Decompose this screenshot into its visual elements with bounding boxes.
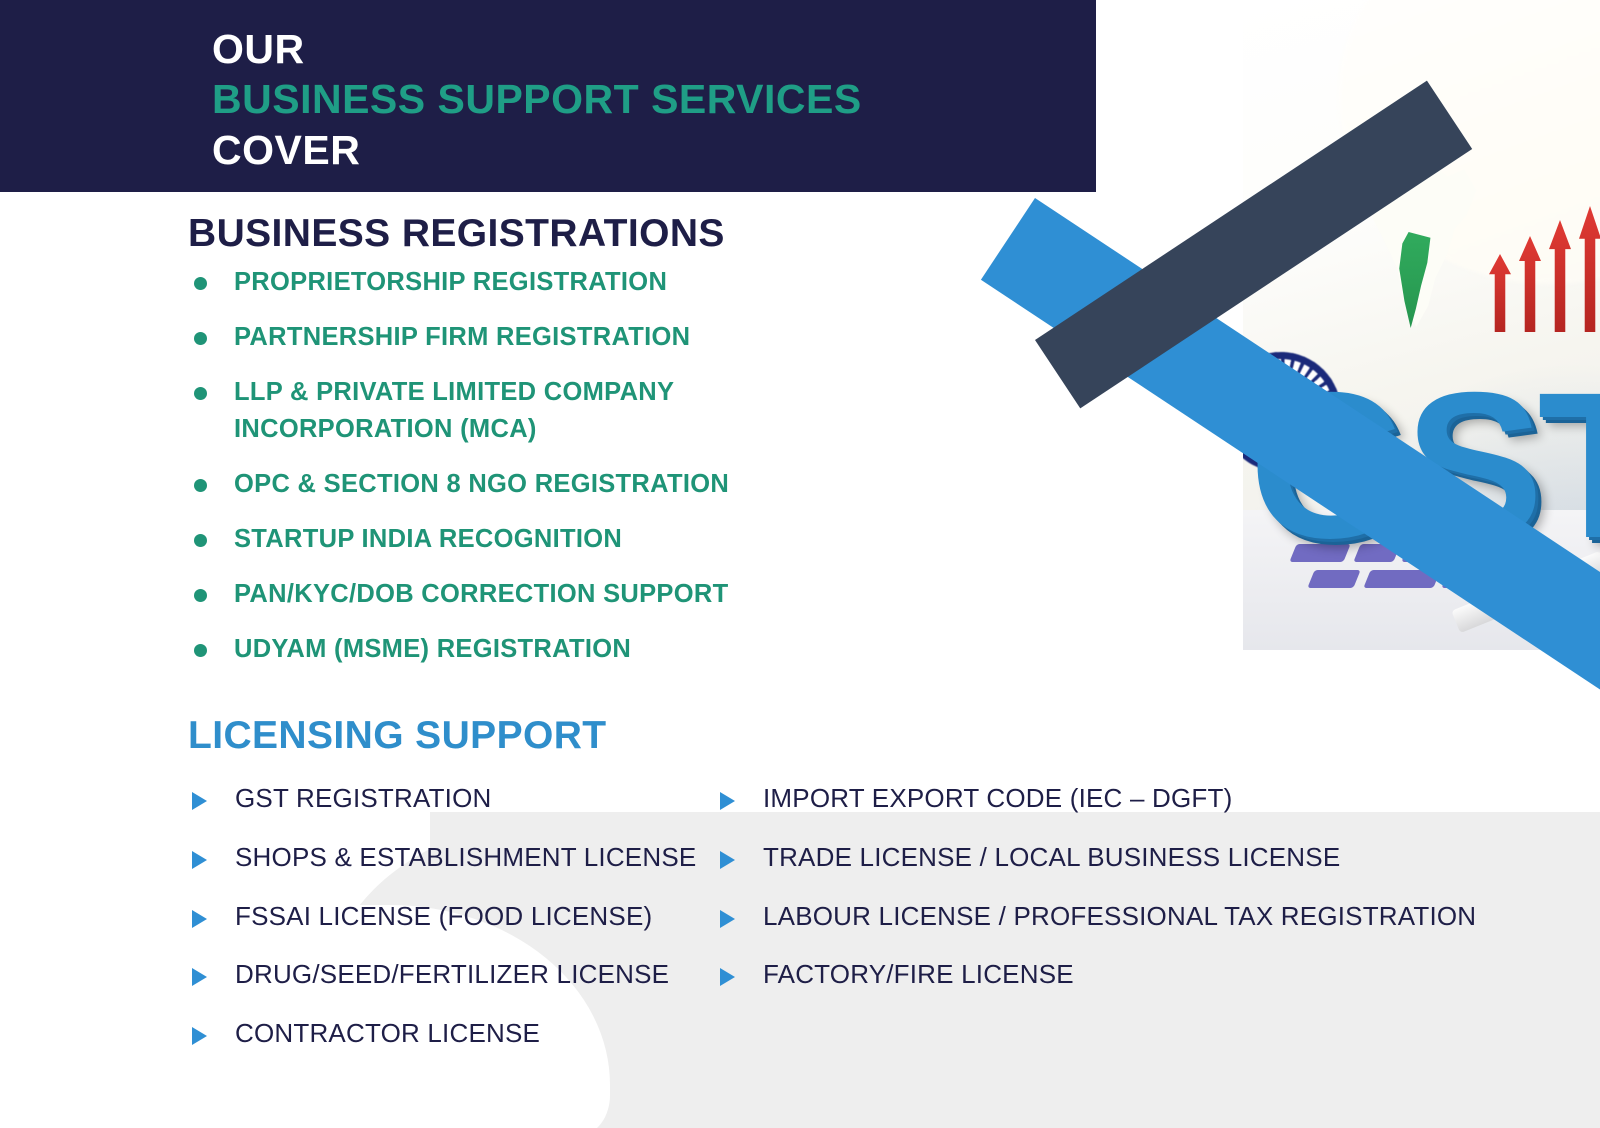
- registration-item: LLP & PRIVATE LIMITED COMPANY INCORPORAT…: [188, 374, 828, 446]
- licensing-item: TRADE LICENSE / LOCAL BUSINESS LICENSE: [716, 841, 1516, 875]
- licensing-item: DRUG/SEED/FERTILIZER LICENSE: [188, 958, 708, 992]
- licensing-support-title: LICENSING SUPPORT: [188, 714, 607, 758]
- licensing-item-label: SHOPS & ESTABLISHMENT LICENSE: [235, 841, 696, 875]
- header-text-block: OUR BUSINESS SUPPORT SERVICES COVER: [212, 24, 862, 175]
- licensing-item-label: LABOUR LICENSE / PROFESSIONAL TAX REGIST…: [763, 900, 1476, 934]
- registration-item: UDYAM (MSME) REGISTRATION: [188, 631, 828, 667]
- triangle-bullet-icon: [720, 968, 735, 986]
- licensing-item: CONTRACTOR LICENSE: [188, 1017, 708, 1051]
- registration-item-label: PROPRIETORSHIP REGISTRATION: [234, 264, 667, 300]
- arrow-bar-3: [1549, 220, 1571, 332]
- arrow-bar-2: [1519, 236, 1541, 332]
- licensing-item-label: DRUG/SEED/FERTILIZER LICENSE: [235, 958, 669, 992]
- registration-item: STARTUP INDIA RECOGNITION: [188, 521, 828, 557]
- dot-bullet-icon: [194, 534, 207, 547]
- licensing-item-label: IMPORT EXPORT CODE (IEC – DGFT): [763, 782, 1232, 816]
- triangle-bullet-icon: [192, 1027, 207, 1045]
- licensing-item: FACTORY/FIRE LICENSE: [716, 958, 1516, 992]
- registration-item-label: PARTNERSHIP FIRM REGISTRATION: [234, 319, 690, 355]
- registration-item: PAN/KYC/DOB CORRECTION SUPPORT: [188, 576, 828, 612]
- licensing-item: IMPORT EXPORT CODE (IEC – DGFT): [716, 782, 1516, 816]
- licensing-item: SHOPS & ESTABLISHMENT LICENSE: [188, 841, 708, 875]
- licensing-item-label: FSSAI LICENSE (FOOD LICENSE): [235, 900, 652, 934]
- triangle-bullet-icon: [192, 968, 207, 986]
- licensing-item-label: GST REGISTRATION: [235, 782, 491, 816]
- arrow-bar-1: [1489, 254, 1511, 332]
- dot-bullet-icon: [194, 589, 207, 602]
- slide-canvas: GST OUR BUSINESS SUPPORT SERVICES COVER …: [0, 0, 1600, 1128]
- triangle-bullet-icon: [192, 851, 207, 869]
- licensing-item-label: TRADE LICENSE / LOCAL BUSINESS LICENSE: [763, 841, 1340, 875]
- dot-bullet-icon: [194, 479, 207, 492]
- registration-item-label: LLP & PRIVATE LIMITED COMPANY INCORPORAT…: [234, 374, 828, 446]
- licensing-list-left: GST REGISTRATIONSHOPS & ESTABLISHMENT LI…: [188, 782, 708, 1076]
- triangle-bullet-icon: [720, 851, 735, 869]
- dot-bullet-icon: [194, 277, 207, 290]
- triangle-bullet-icon: [192, 792, 207, 810]
- gst-artwork-image: GST: [1243, 0, 1600, 650]
- registration-item-label: STARTUP INDIA RECOGNITION: [234, 521, 622, 557]
- header-line-2: BUSINESS SUPPORT SERVICES: [212, 74, 862, 124]
- licensing-item: LABOUR LICENSE / PROFESSIONAL TAX REGIST…: [716, 900, 1516, 934]
- gst-3d-text: GST: [1249, 362, 1600, 570]
- registration-item-label: UDYAM (MSME) REGISTRATION: [234, 631, 631, 667]
- licensing-list-right: IMPORT EXPORT CODE (IEC – DGFT)TRADE LIC…: [716, 782, 1516, 1017]
- business-registrations-title: BUSINESS REGISTRATIONS: [188, 212, 725, 256]
- dot-bullet-icon: [194, 332, 207, 345]
- licensing-item-label: FACTORY/FIRE LICENSE: [763, 958, 1074, 992]
- registration-item: PROPRIETORSHIP REGISTRATION: [188, 264, 828, 300]
- header-banner: OUR BUSINESS SUPPORT SERVICES COVER: [0, 0, 1096, 192]
- dot-bullet-icon: [194, 387, 207, 400]
- registration-item: OPC & SECTION 8 NGO REGISTRATION: [188, 466, 828, 502]
- registration-item-label: PAN/KYC/DOB CORRECTION SUPPORT: [234, 576, 728, 612]
- header-line-1: OUR: [212, 24, 862, 74]
- licensing-item-label: CONTRACTOR LICENSE: [235, 1017, 540, 1051]
- business-registrations-list: PROPRIETORSHIP REGISTRATIONPARTNERSHIP F…: [188, 264, 828, 687]
- growth-arrows-icon: [1489, 212, 1600, 332]
- dot-bullet-icon: [194, 644, 207, 657]
- triangle-bullet-icon: [720, 792, 735, 810]
- registration-item: PARTNERSHIP FIRM REGISTRATION: [188, 319, 828, 355]
- arrow-bar-4: [1579, 206, 1600, 332]
- licensing-item: FSSAI LICENSE (FOOD LICENSE): [188, 900, 708, 934]
- licensing-item: GST REGISTRATION: [188, 782, 708, 816]
- triangle-bullet-icon: [192, 910, 207, 928]
- header-line-3: COVER: [212, 125, 862, 175]
- triangle-bullet-icon: [720, 910, 735, 928]
- registration-item-label: OPC & SECTION 8 NGO REGISTRATION: [234, 466, 729, 502]
